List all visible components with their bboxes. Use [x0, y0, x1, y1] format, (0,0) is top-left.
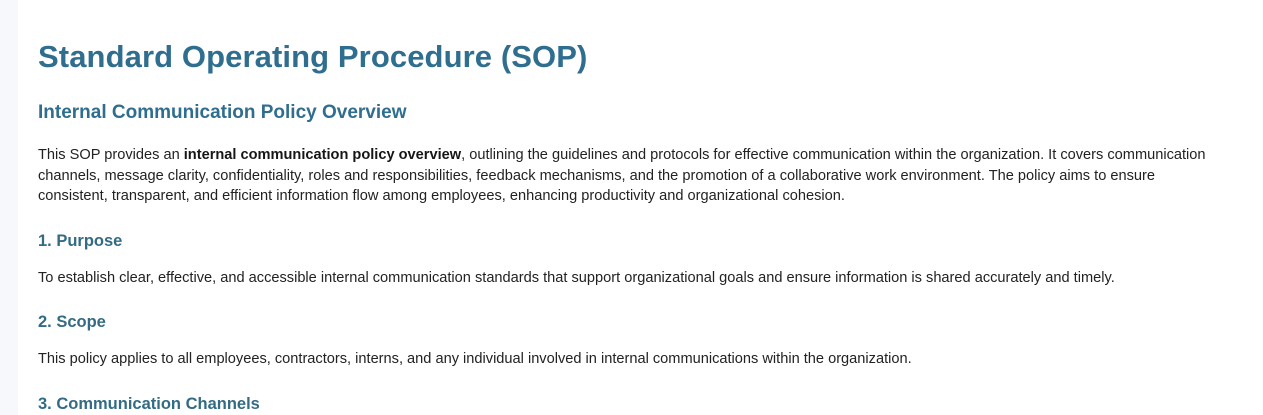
section-heading-communication-channels: 3. Communication Channels — [38, 370, 1243, 415]
document-content-card: Standard Operating Procedure (SOP) Inter… — [18, 0, 1263, 415]
document-page: Standard Operating Procedure (SOP) Inter… — [0, 0, 1263, 415]
document-subtitle: Internal Communication Policy Overview — [38, 75, 1243, 125]
page-title: Standard Operating Procedure (SOP) — [38, 0, 1243, 75]
intro-bold-phrase: internal communication policy overview — [184, 147, 461, 163]
intro-paragraph: This SOP provides an internal communicat… — [38, 125, 1228, 207]
section-heading-purpose: 1. Purpose — [38, 207, 1243, 252]
section-heading-scope: 2. Scope — [38, 288, 1243, 333]
intro-text-before-bold: This SOP provides an — [38, 147, 184, 163]
section-body-scope: This policy applies to all employees, co… — [38, 333, 1228, 370]
section-body-purpose: To establish clear, effective, and acces… — [38, 252, 1228, 289]
